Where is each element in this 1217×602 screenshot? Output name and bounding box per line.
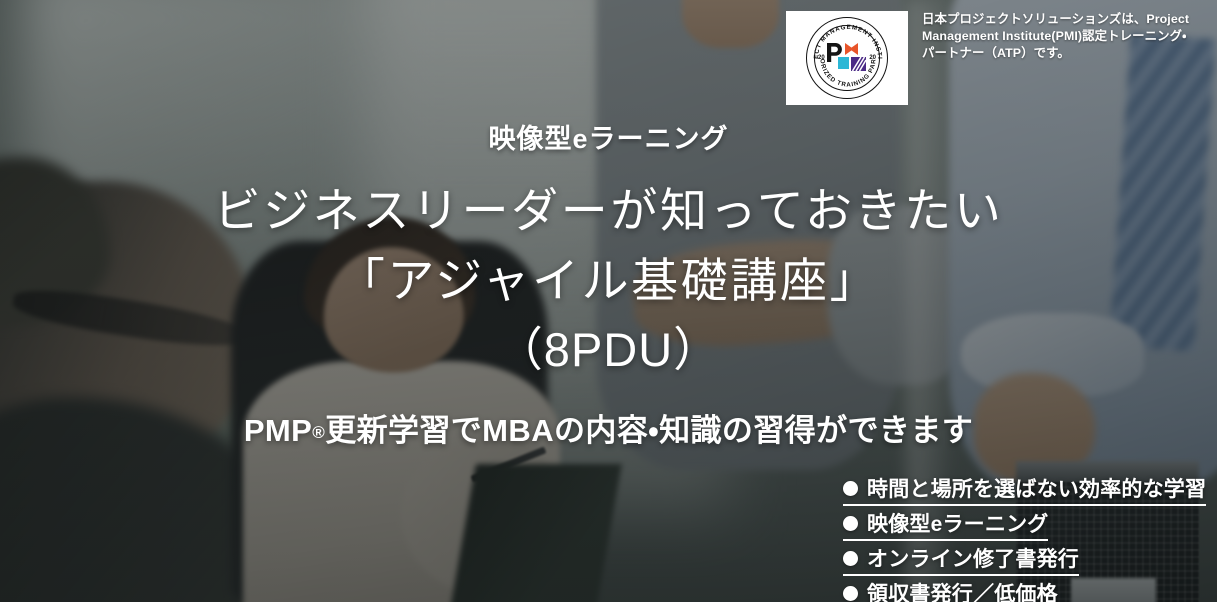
eyebrow-label: 映像型eラーニング xyxy=(0,117,1217,156)
seal-year-right: 20 xyxy=(869,55,876,61)
benefit-label: オンライン修了書発行 xyxy=(867,543,1079,573)
benefits-list: 時間と場所を選ばない効率的な学習 映像型eラーニング オンライン修了書発行 領収… xyxy=(843,473,1206,602)
hero-banner: PROJECT MANAGEMENT INSTITUTE AUTHORIZED … xyxy=(0,0,1217,602)
list-item: 時間と場所を選ばない効率的な学習 xyxy=(843,473,1206,506)
pmi-note-line-2: Management Institute(PMI)認定トレーニング・ xyxy=(922,28,1212,45)
list-item: 映像型eラーニング xyxy=(843,508,1048,541)
benefit-label: 時間と場所を選ばない効率的な学習 xyxy=(867,473,1206,503)
benefit-label: 映像型eラーニング xyxy=(867,508,1048,538)
pmi-note-line-3: パートナー（ATP）です。 xyxy=(922,45,1212,62)
headline-line-3: （8PDU） xyxy=(0,315,1217,385)
registered-mark-icon: ® xyxy=(312,423,325,442)
subheadline: PMP®更新学習でMBAの内容・知識の習得ができます xyxy=(0,405,1217,450)
pmi-note-line-1: 日本プロジェクトソリューションズは、Project xyxy=(922,11,1212,28)
bullet-dot-icon xyxy=(843,551,858,566)
headline-line-2: 「アジャイル基礎講座」 xyxy=(0,246,1217,316)
subheadline-prefix: PMP xyxy=(244,413,312,448)
subheadline-rest: 更新学習でMBAの内容・知識の習得ができます xyxy=(325,413,973,448)
benefit-label: 領収書発行／低価格 xyxy=(867,578,1058,602)
pmi-atp-note: 日本プロジェクトソリューションズは、Project Management Ins… xyxy=(922,11,1212,62)
headline-line-1: ビジネスリーダーが知っておきたい xyxy=(0,176,1217,246)
banner-content: PROJECT MANAGEMENT INSTITUTE AUTHORIZED … xyxy=(0,0,1217,602)
bullet-dot-icon xyxy=(843,516,858,531)
seal-year-left: 20 xyxy=(818,55,825,61)
list-item: オンライン修了書発行 xyxy=(843,543,1079,576)
seal-outer-ring: PROJECT MANAGEMENT INSTITUTE AUTHORIZED … xyxy=(806,17,888,99)
pmi-logo-icon xyxy=(825,41,869,75)
bullet-dot-icon xyxy=(843,481,858,496)
pmi-atp-badge-block: PROJECT MANAGEMENT INSTITUTE AUTHORIZED … xyxy=(786,11,1212,105)
bullet-dot-icon xyxy=(843,586,858,601)
pmi-atp-seal: PROJECT MANAGEMENT INSTITUTE AUTHORIZED … xyxy=(786,11,908,105)
list-item: 領収書発行／低価格 xyxy=(843,578,1058,602)
page-title: ビジネスリーダーが知っておきたい 「アジャイル基礎講座」 （8PDU） xyxy=(0,176,1217,385)
